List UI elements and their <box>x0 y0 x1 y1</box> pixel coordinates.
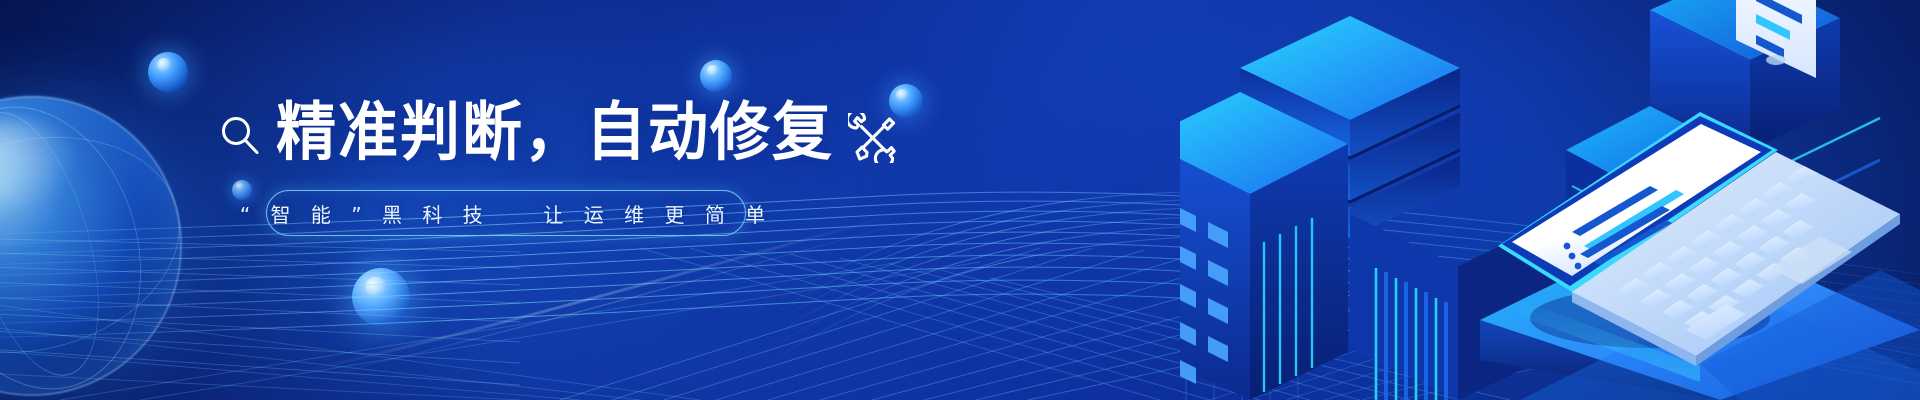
banner-root: 精准判断，自动修复 “ 智 能 ” 黑 科 技 让 运 维 更 简 单 <box>0 0 1920 400</box>
subtitle-pill: “ 智 能 ” 黑 科 技 让 运 维 更 简 单 <box>266 190 746 236</box>
bubble-sphere <box>700 60 732 92</box>
wrench-screwdriver-icon <box>848 113 898 163</box>
subtitle-text: “ 智 能 ” 黑 科 技 让 运 维 更 简 单 <box>240 199 772 228</box>
magnifier-icon <box>218 114 262 158</box>
page-title: 精准判断，自动修复 <box>276 101 834 165</box>
bubble-sphere <box>148 52 188 92</box>
headline-row: 精准判断，自动修复 <box>218 96 898 170</box>
text-block: 精准判断，自动修复 “ 智 能 ” 黑 科 技 让 运 维 更 简 单 <box>218 96 898 236</box>
office-building-left <box>1180 92 1348 400</box>
isometric-illustration <box>1180 0 1920 400</box>
bubble-sphere <box>352 268 410 326</box>
